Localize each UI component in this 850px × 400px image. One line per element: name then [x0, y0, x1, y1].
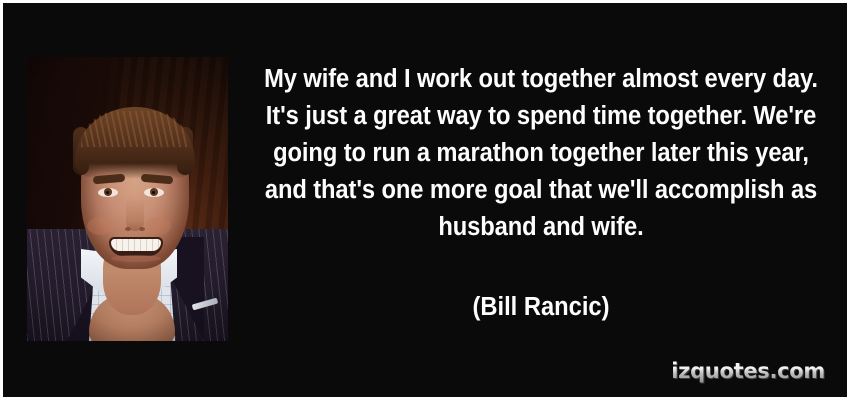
- quote-image-card: My wife and I work out together almost e…: [0, 0, 850, 400]
- quote-line-2: It's just a great way to spend time toge…: [262, 98, 820, 135]
- portrait-pupil-left: [106, 191, 109, 194]
- portrait-photo: [27, 57, 228, 341]
- quote-line-5: husband and wife.: [262, 209, 820, 246]
- portrait-nose: [126, 197, 144, 231]
- quote-line-3: going to run a marathon together later t…: [262, 135, 820, 172]
- portrait-cheek-right: [145, 217, 171, 235]
- portrait-lower-lip: [111, 255, 161, 262]
- portrait-illustration: [27, 57, 228, 341]
- watermark-izquotes: izquotes.com: [671, 359, 825, 383]
- quote-block: My wife and I work out together almost e…: [241, 61, 841, 322]
- portrait-teeth: [111, 239, 161, 251]
- portrait-nostril-left: [125, 227, 131, 231]
- quote-attribution: (Bill Rancic): [262, 246, 820, 322]
- quote-line-1: My wife and I work out together almost e…: [262, 61, 820, 98]
- portrait-smile: [109, 237, 163, 256]
- portrait-pupil-right: [152, 191, 155, 194]
- portrait-nostril-right: [139, 227, 145, 231]
- portrait-cheek-left: [87, 217, 113, 235]
- quote-line-4: and that's one more goal that we'll acco…: [262, 172, 820, 209]
- quote-canvas: My wife and I work out together almost e…: [3, 3, 847, 397]
